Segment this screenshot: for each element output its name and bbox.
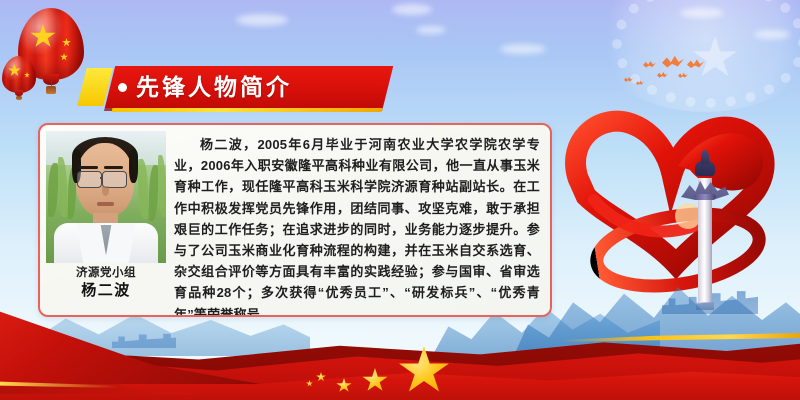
huabiao-ring	[694, 194, 716, 200]
poster-canvas: 先锋人物简介	[0, 0, 800, 400]
page-title: 先锋人物简介	[136, 66, 292, 108]
cloud-shape	[500, 44, 546, 54]
cloud-shape	[680, 8, 724, 18]
heart-ribbon-svg	[556, 104, 786, 304]
hot-air-balloon-small	[2, 56, 36, 100]
red-ribbon-heart	[556, 104, 786, 304]
corn-leaf	[48, 163, 58, 217]
portrait-photo	[46, 131, 166, 263]
hair-side	[129, 149, 138, 183]
caption-organization: 济源党小组	[46, 265, 166, 281]
banner-gold-underline	[112, 108, 383, 112]
profile-card: 济源党小组 杨二波 杨二波，2005年6月毕业于河南农业大学农学院农学专业，20…	[38, 123, 552, 317]
corn-leaf	[58, 157, 67, 217]
profile-body-text: 杨二波，2005年6月毕业于河南农业大学农学院农学专业，2006年入职安徽隆平高…	[174, 134, 540, 317]
mouth	[97, 202, 114, 206]
cloud-shape	[236, 14, 288, 26]
glasses-bridge	[100, 177, 103, 179]
glasses-lens	[77, 171, 102, 188]
huabiao-column	[690, 150, 720, 310]
cloud-shape	[754, 30, 790, 39]
eyebrow	[104, 166, 123, 169]
eyebrow	[79, 166, 98, 169]
balloon-envelope	[2, 56, 36, 93]
banner-text-wrap: 先锋人物简介	[118, 66, 292, 108]
corn-leaf	[149, 165, 158, 221]
huabiao-finial	[701, 150, 709, 164]
nose	[102, 186, 109, 196]
balloon-basket	[46, 86, 57, 94]
cloud-shape	[416, 26, 446, 34]
photo-caption: 济源党小组 杨二波	[46, 265, 166, 307]
cloud-shape	[392, 4, 432, 15]
bullet-dot-icon	[118, 83, 127, 92]
balloon-basket	[16, 96, 21, 100]
caption-person-name: 杨二波	[46, 281, 166, 301]
corn-leaf	[138, 159, 148, 219]
photo-block: 济源党小组 杨二波	[46, 131, 166, 307]
